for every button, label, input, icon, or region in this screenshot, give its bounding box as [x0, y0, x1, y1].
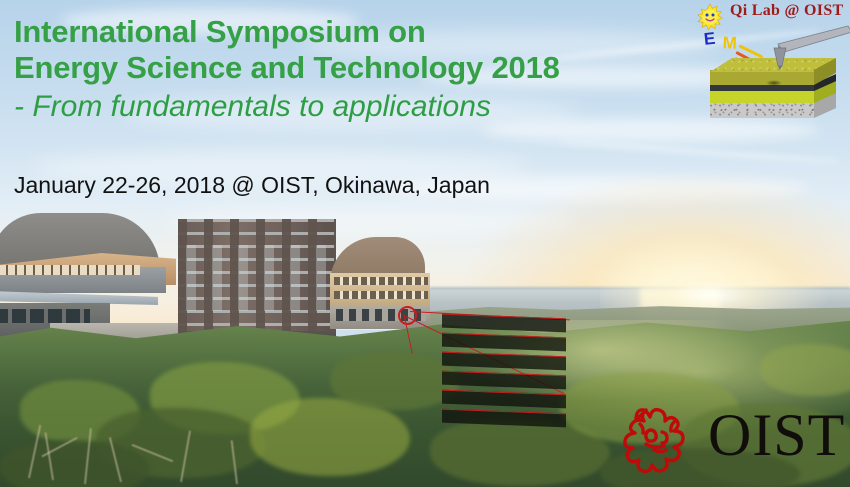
foliage-clump: [760, 344, 850, 396]
oist-shisa-mark-icon: [616, 400, 702, 480]
top-film-front: [710, 70, 814, 85]
active-layer: [710, 90, 814, 103]
date-location-text: January 22-26, 2018 @ OIST, Okinawa, Jap…: [14, 172, 490, 199]
layer-stack-graphic: [442, 316, 572, 430]
em-letter: M: [722, 34, 737, 51]
foliage-clump: [330, 352, 460, 410]
qi-lab-logo: E M Qi Lab @ OIST: [688, 0, 850, 128]
substrate-layer: [710, 102, 814, 118]
oist-logo: OIST: [612, 398, 848, 482]
tip-indentation: [766, 80, 782, 86]
em-letter: E: [703, 30, 716, 48]
callout-marker-icon: [398, 306, 417, 325]
title-line-1: International Symposium on: [14, 14, 714, 50]
banner-title-block: International Symposium on Energy Scienc…: [14, 14, 714, 126]
electrode-layer: [710, 84, 814, 91]
oist-main-building: [0, 205, 420, 345]
conference-banner: International Symposium on Energy Scienc…: [0, 0, 850, 487]
afm-cantilever-icon: [760, 22, 850, 72]
oist-wordmark: OIST: [708, 404, 845, 466]
banner-subtitle: - From fundamentals to applications: [14, 88, 714, 126]
title-line-2: Energy Science and Technology 2018: [14, 50, 714, 86]
qi-lab-wordmark: Qi Lab @ OIST: [730, 2, 844, 20]
